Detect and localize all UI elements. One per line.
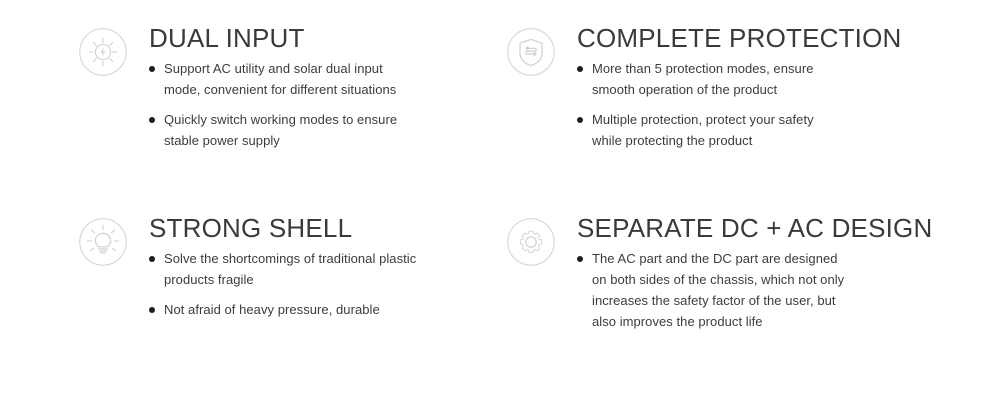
point-line: Solve the shortcomings of traditional pl… [164, 248, 488, 269]
feature-card-complete-protection: COMPLETE PROTECTION More than 5 protecti… [506, 26, 936, 151]
feature-title: SEPARATE DC + AC DESIGN [577, 214, 936, 243]
point-line: Support AC utility and solar dual input [164, 58, 488, 79]
bullet-icon [149, 307, 155, 313]
feature-card-dual-input: DUAL INPUT Support AC utility and solar … [78, 26, 488, 151]
feature-grid: DUAL INPUT Support AC utility and solar … [0, 0, 982, 411]
feature-body: STRONG SHELL Solve the shortcomings of t… [128, 214, 488, 320]
point-line: on both sides of the chassis, which not … [592, 269, 922, 290]
feature-body: SEPARATE DC + AC DESIGN The AC part and … [556, 214, 936, 332]
feature-title: STRONG SHELL [149, 214, 488, 243]
feature-point: Solve the shortcomings of traditional pl… [149, 248, 488, 290]
bullet-icon [149, 66, 155, 72]
feature-point-list: The AC part and the DC part are designed… [577, 248, 936, 332]
point-line: The AC part and the DC part are designed [592, 248, 922, 269]
feature-point-list: Support AC utility and solar dual input … [149, 58, 488, 151]
point-line: increases the safety factor of the user,… [592, 290, 922, 311]
bullet-icon [577, 66, 583, 72]
point-line: smooth operation of the product [592, 79, 922, 100]
bullet-icon [577, 256, 583, 262]
point-line: stable power supply [164, 130, 488, 151]
feature-point: Multiple protection, protect your safety… [577, 109, 922, 151]
feature-title: COMPLETE PROTECTION [577, 24, 936, 53]
point-line: More than 5 protection modes, ensure [592, 58, 922, 79]
gear-icon [506, 217, 556, 267]
lightbulb-icon [78, 217, 128, 267]
feature-point: The AC part and the DC part are designed… [577, 248, 922, 332]
feature-body: COMPLETE PROTECTION More than 5 protecti… [556, 24, 936, 151]
bullet-icon [577, 117, 583, 123]
feature-point: Not afraid of heavy pressure, durable [149, 299, 488, 320]
feature-point-list: More than 5 protection modes, ensure smo… [577, 58, 936, 151]
feature-body: DUAL INPUT Support AC utility and solar … [128, 24, 488, 151]
feature-title: DUAL INPUT [149, 24, 488, 53]
feature-point: More than 5 protection modes, ensure smo… [577, 58, 922, 100]
point-line: while protecting the product [592, 130, 922, 151]
point-line: mode, convenient for different situation… [164, 79, 488, 100]
point-line: also improves the product life [592, 311, 922, 332]
bullet-icon [149, 256, 155, 262]
point-line: Multiple protection, protect your safety [592, 109, 922, 130]
feature-point-list: Solve the shortcomings of traditional pl… [149, 248, 488, 320]
sun-power-icon [78, 27, 128, 77]
shield-exchange-icon [506, 27, 556, 77]
point-line: Quickly switch working modes to ensure [164, 109, 488, 130]
feature-card-separate-dc-ac-design: SEPARATE DC + AC DESIGN The AC part and … [506, 216, 936, 332]
feature-point: Quickly switch working modes to ensure s… [149, 109, 488, 151]
feature-card-strong-shell: STRONG SHELL Solve the shortcomings of t… [78, 216, 488, 320]
feature-point: Support AC utility and solar dual input … [149, 58, 488, 100]
point-line: Not afraid of heavy pressure, durable [164, 299, 488, 320]
bullet-icon [149, 117, 155, 123]
point-line: products fragile [164, 269, 488, 290]
